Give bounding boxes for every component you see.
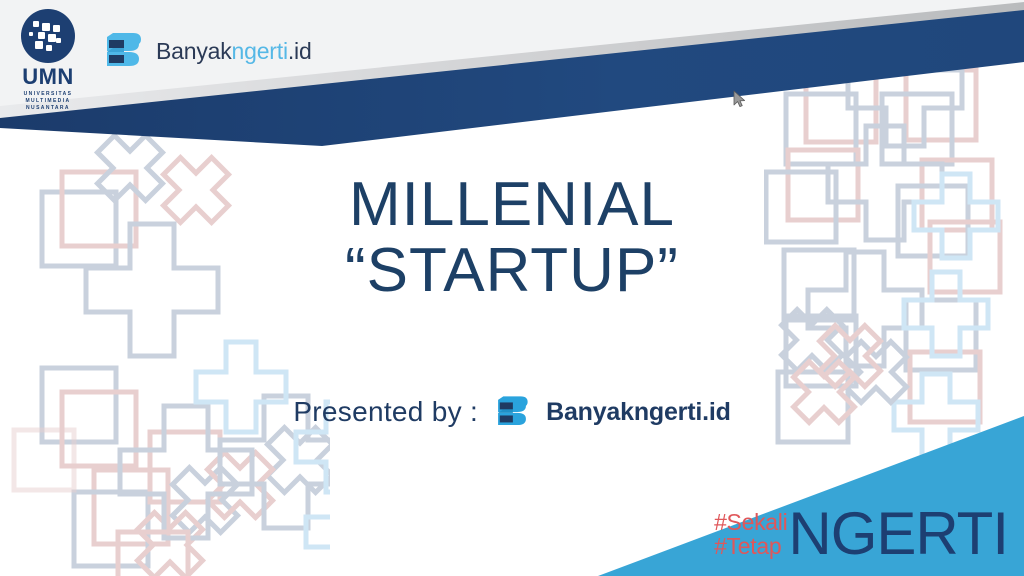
umn-pixel-circle-icon bbox=[20, 8, 76, 64]
brand-part-domain: .id bbox=[288, 38, 312, 64]
presented-brand-text: Banyakngerti.id bbox=[546, 398, 731, 427]
slide-tagline: #Sekali #Tetap NGERTI bbox=[714, 504, 1008, 564]
slide-title: MILLENIAL “STARTUP” bbox=[0, 172, 1024, 303]
umn-tagline-line-3: NUSANTARA bbox=[12, 105, 84, 112]
stacked-books-b-icon bbox=[100, 28, 146, 74]
tagline-hashtag-1: #Sekali bbox=[714, 510, 787, 534]
presentation-slide: UMN UNIVERSITAS MULTIMEDIA NUSANTARA Ban… bbox=[0, 0, 1024, 576]
umn-logo: UMN UNIVERSITAS MULTIMEDIA NUSANTARA bbox=[12, 8, 84, 111]
brand-part-banyak: Banyak bbox=[156, 38, 232, 64]
presented-by-label: Presented by : bbox=[293, 396, 478, 428]
umn-tagline-line-1: UNIVERSITAS bbox=[12, 91, 84, 98]
tagline-word: NGERTI bbox=[788, 504, 1008, 564]
tagline-hashtag-2: #Tetap bbox=[714, 534, 787, 558]
title-line-1: MILLENIAL bbox=[0, 172, 1024, 238]
banyakngerti-wordmark: Banyakngerti.id bbox=[156, 38, 312, 65]
title-line-2: “STARTUP” bbox=[0, 238, 1024, 304]
mouse-pointer-icon bbox=[733, 90, 746, 108]
umn-tagline: UNIVERSITAS MULTIMEDIA NUSANTARA bbox=[12, 91, 84, 111]
brand-part-ngerti: ngerti bbox=[232, 38, 288, 64]
umn-tagline-line-2: MULTIMEDIA bbox=[12, 98, 84, 105]
umn-wordmark: UMN bbox=[12, 66, 84, 88]
presented-by-row: Presented by : Banyakngerti.id bbox=[0, 392, 1024, 432]
stacked-books-b-icon bbox=[492, 392, 532, 432]
tagline-hashtags: #Sekali #Tetap bbox=[714, 510, 787, 558]
header-diagonal-banner bbox=[0, 0, 1024, 170]
banyakngerti-header-logo: Banyakngerti.id bbox=[100, 28, 312, 74]
